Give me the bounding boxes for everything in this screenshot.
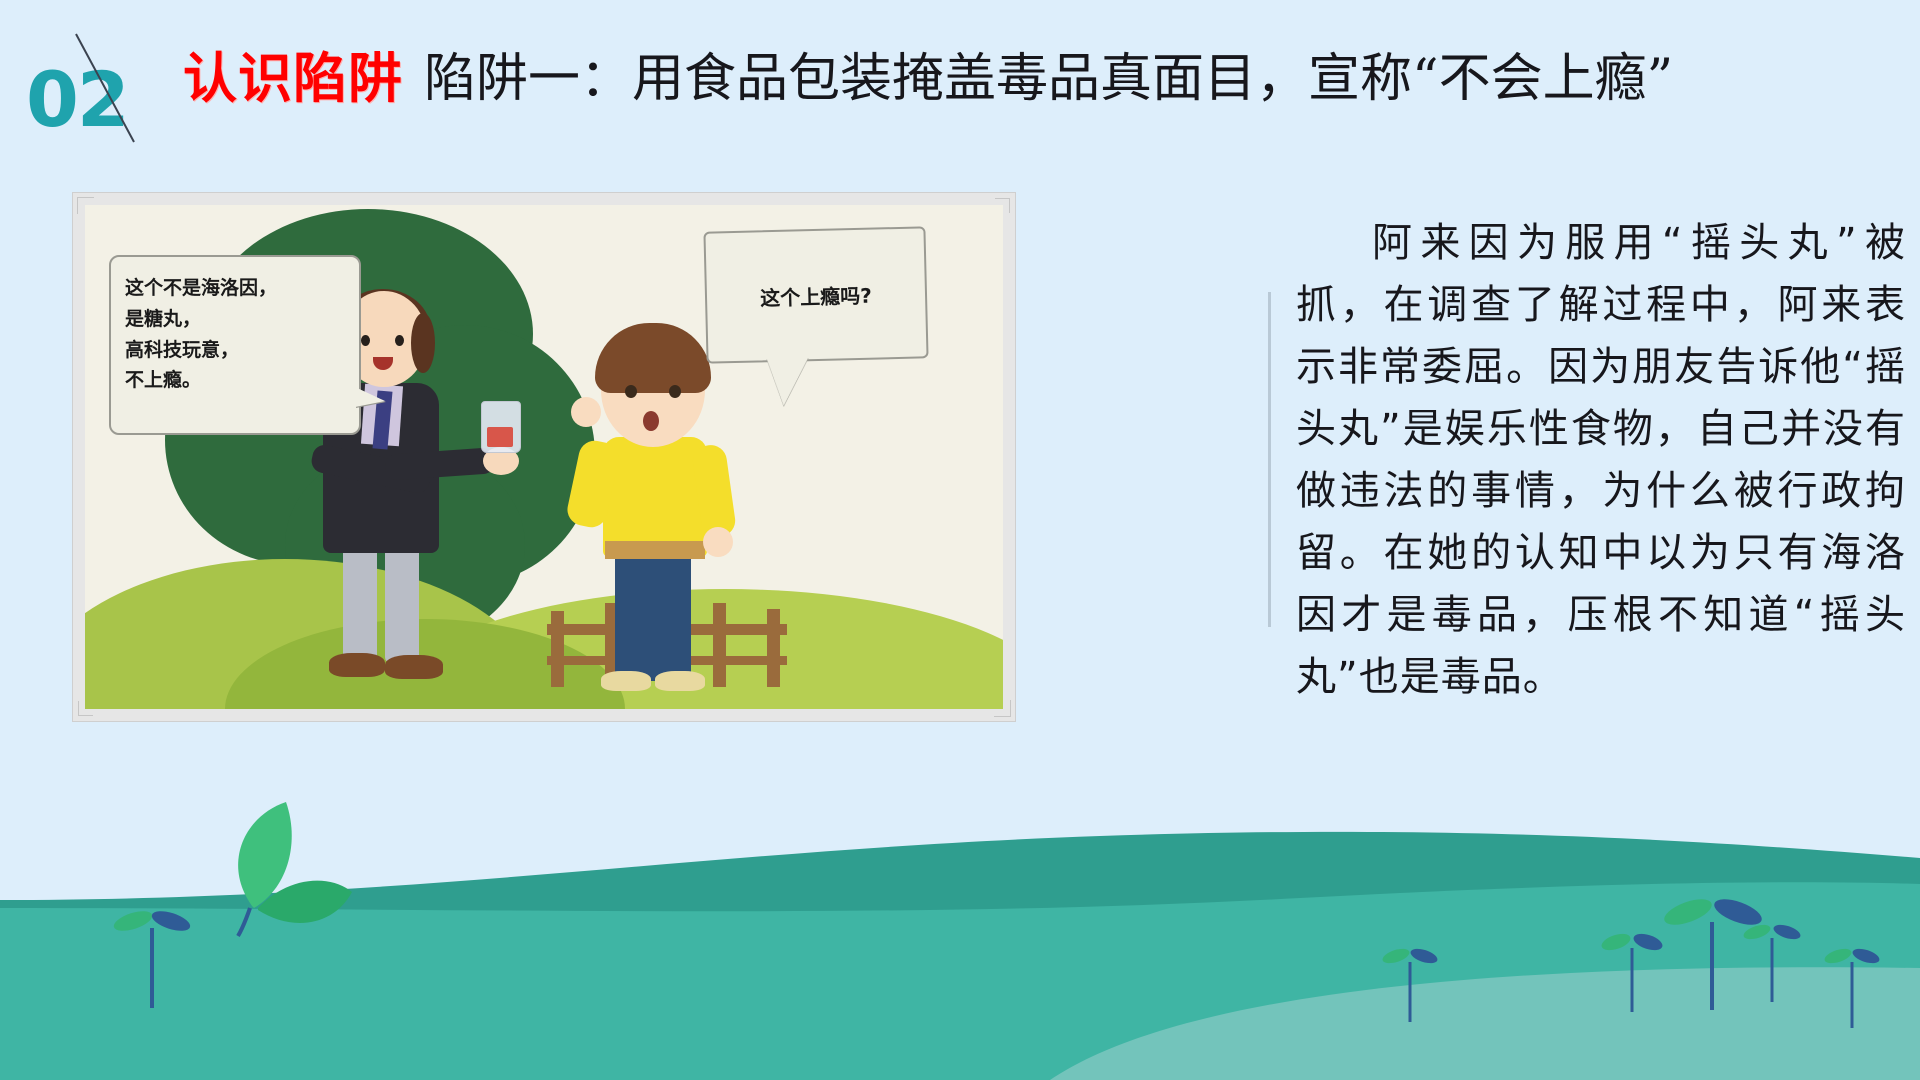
header-slash-decoration xyxy=(72,28,138,148)
boy-hand xyxy=(703,527,733,557)
man-eye xyxy=(395,335,404,346)
speech-bubble-right: 这个上瘾吗? xyxy=(703,226,928,363)
man-eye xyxy=(361,335,370,346)
speech-bubble-right-text: 这个上瘾吗? xyxy=(760,279,872,311)
section-title: 认识陷阱 xyxy=(183,34,403,113)
speech-bubble-tail xyxy=(767,357,810,406)
speech-bubble-left-line: 是糖丸， xyxy=(125,304,345,335)
man-shoe xyxy=(329,653,385,677)
speech-bubble-left-line: 不上瘾。 xyxy=(125,365,345,396)
boy-shoe xyxy=(655,671,705,691)
vertical-divider xyxy=(1268,292,1271,627)
slide-canvas: 02 认识陷阱 陷阱一：用食品包装掩盖毒品真面目，宣称“不会上瘾” xyxy=(0,0,1920,1080)
boy-hand xyxy=(571,397,601,427)
boy-shoe xyxy=(601,671,651,691)
illustration-frame: 这个不是海洛因， 是糖丸， 高科技玩意， 不上瘾。 这个上瘾吗? xyxy=(72,192,1016,722)
speech-bubble-tail xyxy=(355,387,385,407)
boy-eye xyxy=(669,385,681,398)
man-shoe xyxy=(385,655,443,679)
man-hair-side xyxy=(411,313,435,373)
bottom-decoration xyxy=(0,780,1920,1080)
fence-post xyxy=(551,611,564,687)
boy-mouth xyxy=(643,411,659,431)
boy-belt xyxy=(605,541,705,559)
boy-pants xyxy=(615,553,691,681)
fence-post xyxy=(767,609,780,687)
body-paragraph: 阿来因为服用“摇头丸”被抓，在调查了解过程中，阿来表示非常委屈。因为朋友告诉他“… xyxy=(1296,212,1906,708)
boy-shirt xyxy=(603,437,707,557)
speech-bubble-left-line: 高科技玩意， xyxy=(125,335,345,366)
speech-bubble-left: 这个不是海洛因， 是糖丸， 高科技玩意， 不上瘾。 xyxy=(109,255,361,435)
fence-post xyxy=(713,603,726,687)
header-subtitle: 陷阱一：用食品包装掩盖毒品真面目，宣称“不会上瘾” xyxy=(424,36,1673,111)
candy-jar-contents xyxy=(487,427,513,447)
boy-eye xyxy=(625,385,637,398)
speech-bubble-left-line: 这个不是海洛因， xyxy=(125,273,345,304)
boy-hair xyxy=(595,323,711,393)
cartoon-illustration: 这个不是海洛因， 是糖丸， 高科技玩意， 不上瘾。 这个上瘾吗? xyxy=(85,205,1003,709)
